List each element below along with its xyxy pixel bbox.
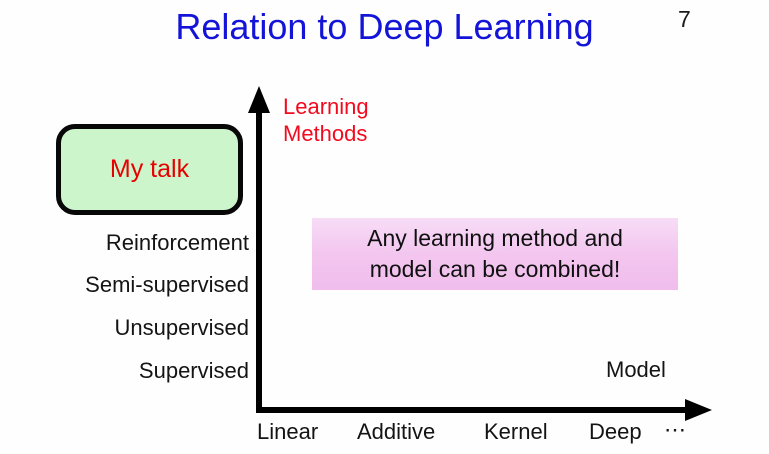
x-tick-label-kernel: Kernel xyxy=(484,419,548,445)
combination-callout: Any learning method and model can be com… xyxy=(312,218,678,290)
my-talk-label: My talk xyxy=(110,155,189,184)
my-talk-highlight-box: My talk xyxy=(56,124,243,215)
y-tick-label-supervised: Supervised xyxy=(139,358,249,384)
y-axis-title-line-1: Learning xyxy=(283,93,369,120)
callout-line-2: model can be combined! xyxy=(370,254,621,285)
y-tick-label-unsupervised: Unsupervised xyxy=(114,315,249,341)
x-axis-arrowhead xyxy=(685,399,712,421)
x-tick-label-ellipsis: ⋯ xyxy=(664,417,688,443)
x-axis-title: Model xyxy=(606,357,666,383)
callout-line-1: Any learning method and xyxy=(367,223,623,254)
page-number: 7 xyxy=(678,6,691,33)
x-tick-label-linear: Linear xyxy=(257,419,318,445)
y-axis-title-line-2: Methods xyxy=(283,120,369,147)
y-axis-title: Learning Methods xyxy=(283,93,369,147)
slide-canvas: Relation to Deep Learning 7 My talk Lear… xyxy=(0,0,769,454)
page-title: Relation to Deep Learning xyxy=(0,6,769,48)
x-tick-label-deep: Deep xyxy=(589,419,642,445)
x-tick-label-additive: Additive xyxy=(357,419,435,445)
y-tick-label-semi-supervised: Semi-supervised xyxy=(85,272,249,298)
y-tick-label-reinforcement: Reinforcement xyxy=(106,230,249,256)
y-axis-arrowhead xyxy=(248,86,270,113)
